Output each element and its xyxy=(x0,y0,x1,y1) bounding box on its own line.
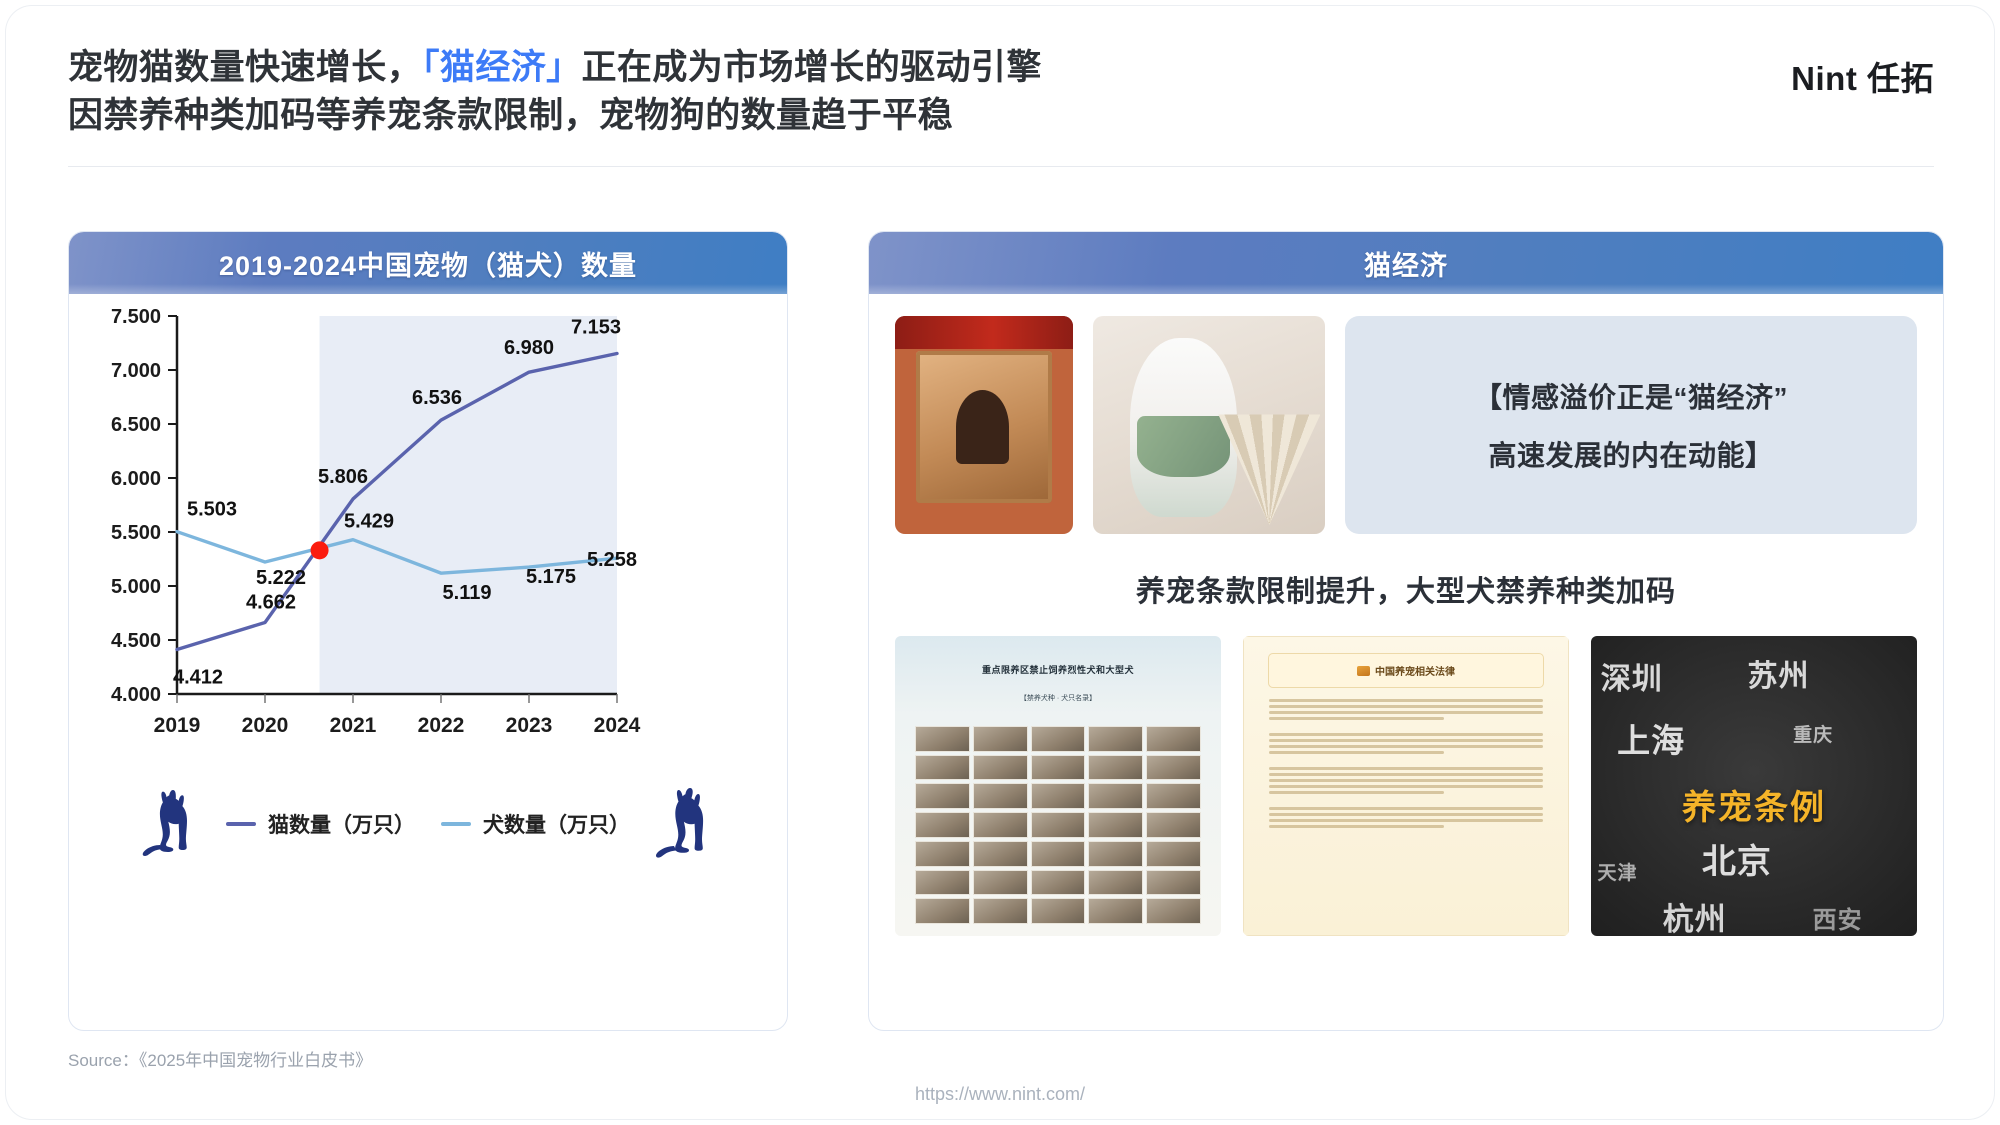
breed-photo-cell xyxy=(1146,841,1201,867)
breed-photo-cell xyxy=(1146,870,1201,896)
header-divider xyxy=(68,166,1934,167)
pet-law-text-line xyxy=(1269,705,1543,708)
headline-line1-part2: 正在成为市场增长的驱动引擎 xyxy=(582,48,1042,87)
pet-law-text-line xyxy=(1269,825,1444,828)
breed-photo-cell xyxy=(915,726,970,752)
cat-data-label: 4.412 xyxy=(173,667,223,689)
wordcloud-highlight: 养宠条例 xyxy=(1591,780,1917,829)
breed-photo-cell xyxy=(973,870,1028,896)
breed-photo-cell xyxy=(973,726,1028,752)
brand-logo: Nint 任拓 xyxy=(1791,52,1934,100)
pet-law-text-line xyxy=(1269,813,1543,816)
legend-swatch-cat xyxy=(226,822,256,826)
dog-silhouette-icon xyxy=(656,782,714,867)
pet-law-document-title: 中国养宠相关法律 xyxy=(1375,663,1455,678)
breed-photo-cell xyxy=(915,812,970,838)
breed-photo-cell xyxy=(1031,726,1086,752)
pet-law-text-line xyxy=(1269,739,1543,742)
breed-photo-cell xyxy=(1031,755,1086,781)
breed-photo-cell xyxy=(1146,783,1201,809)
city-word: 苏州 xyxy=(1747,651,1809,695)
breed-photo-cell xyxy=(973,898,1028,924)
breed-photo-cell xyxy=(1088,898,1143,924)
breed-photo-cell xyxy=(915,755,970,781)
breed-photo-cell xyxy=(915,898,970,924)
dog-data-label: 5.503 xyxy=(187,499,237,521)
scroll-icon xyxy=(1357,666,1370,676)
breed-photo-cell xyxy=(1088,841,1143,867)
cat-house-photo xyxy=(895,316,1073,534)
cat-economy-body: 【情感溢价正是“猫经济” 高速发展的内在动能】 养宠条款限制提升，大型犬禁养种类… xyxy=(869,294,1943,1031)
dog-data-label: 5.222 xyxy=(256,567,306,589)
city-word: 北京 xyxy=(1702,834,1772,883)
city-word: 重庆 xyxy=(1793,720,1833,747)
pet-law-text-line xyxy=(1269,699,1543,702)
slide-root: 宠物猫数量快速增长，「猫经济」正在成为市场增长的驱动引擎 因禁养种类加码等养宠条… xyxy=(0,0,2000,1125)
legend-swatch-dog xyxy=(441,822,471,826)
legend-label-dog: 犬数量（万只） xyxy=(483,809,630,839)
breed-photo-cell xyxy=(1146,812,1201,838)
page-frame: 宠物猫数量快速增长，「猫经济」正在成为市场增长的驱动引擎 因禁养种类加码等养宠条… xyxy=(6,6,1994,1119)
legend-item-cat[interactable]: 猫数量（万只） xyxy=(226,809,415,839)
breed-photo-cell xyxy=(973,783,1028,809)
pet-law-document-header: 中国养宠相关法律 xyxy=(1269,654,1543,687)
breed-photo-cell xyxy=(915,870,970,896)
dog-data-label: 5.119 xyxy=(443,582,492,604)
pet-law-text-line xyxy=(1269,819,1543,822)
x-axis-tick-label: 2024 xyxy=(594,714,641,737)
pet-law-text-line xyxy=(1269,733,1543,736)
breed-photo-cell xyxy=(915,783,970,809)
breed-photo-cell xyxy=(1031,870,1086,896)
pet-law-text-line xyxy=(1269,711,1543,714)
x-axis-tick-label: 2021 xyxy=(330,714,377,737)
chart-highlight-band xyxy=(320,316,617,694)
legend-item-dog[interactable]: 犬数量（万只） xyxy=(441,809,630,839)
y-axis-tick-label: 5.000 xyxy=(111,576,161,598)
city-word: 西安 xyxy=(1813,900,1863,935)
breed-photo-cell xyxy=(1088,726,1143,752)
top-media-row: 【情感溢价正是“猫经济” 高速发展的内在动能】 xyxy=(895,316,1917,534)
x-axis-tick-label: 2022 xyxy=(418,714,465,737)
cat-fan-photo-art xyxy=(1093,316,1325,534)
breed-photo-cell xyxy=(1088,755,1143,781)
breed-photo-cell xyxy=(915,841,970,867)
city-word: 深圳 xyxy=(1601,654,1663,698)
cat-economy-card: 猫经济 【情感溢价正是“猫经济” 高速发展的内在动能】 xyxy=(868,231,1944,1031)
y-axis-tick-label: 7.000 xyxy=(111,360,161,382)
quote-line-1: 【情感溢价正是“猫经济” xyxy=(1474,376,1788,416)
dog-data-label: 5.258 xyxy=(587,549,637,571)
cat-silhouette-icon xyxy=(142,782,200,867)
y-axis-tick-label: 4.500 xyxy=(111,630,161,652)
pet-law-text-line xyxy=(1269,797,1543,804)
cat-economy-card-title: 猫经济 xyxy=(1364,244,1448,283)
dog-data-label: 5.175 xyxy=(526,566,576,588)
footer-url: https://www.nint.com/ xyxy=(6,1084,1994,1105)
chart-body: 4.0004.5005.0005.5006.0006.5007.0007.500… xyxy=(69,294,787,1031)
dog-data-label: 5.429 xyxy=(344,511,394,533)
cat-economy-card-header: 猫经济 xyxy=(869,232,1943,294)
pet-law-text-line xyxy=(1269,717,1444,720)
y-axis-tick-label: 6.500 xyxy=(111,414,161,436)
y-axis-tick-label: 4.000 xyxy=(111,684,161,706)
cat-economy-subheading: 养宠条款限制提升，大型犬禁养种类加码 xyxy=(895,568,1917,610)
breed-photo-cell xyxy=(1031,812,1086,838)
pet-law-text-line xyxy=(1269,723,1543,730)
crossover-marker xyxy=(311,541,329,559)
headline-accent: 「猫经济」 xyxy=(422,48,582,87)
cat-data-label: 7.153 xyxy=(571,316,621,338)
pet-law-text-line xyxy=(1269,757,1543,764)
breed-photo-grid xyxy=(915,726,1202,924)
pet-law-text-line xyxy=(1269,745,1543,748)
restricted-breeds-poster-title: 重点限养区禁止饲养烈性犬和大型犬 xyxy=(895,663,1221,676)
pet-count-line-chart: 4.0004.5005.0005.5006.0006.5007.0007.500… xyxy=(69,294,788,764)
pet-law-text-line xyxy=(1269,785,1543,788)
quote-line-2: 高速发展的内在动能】 xyxy=(1488,434,1773,474)
pet-law-text-line xyxy=(1269,779,1543,782)
city-word: 天津 xyxy=(1598,858,1638,885)
headline-line-1: 宠物猫数量快速增长，「猫经济」正在成为市场增长的驱动引擎 xyxy=(68,44,1934,92)
breed-photo-cell xyxy=(1088,812,1143,838)
cat-data-label: 6.980 xyxy=(504,337,554,359)
cat-data-label: 5.806 xyxy=(318,466,368,488)
cat-data-label: 6.536 xyxy=(412,387,462,409)
source-note: Source：《2025年中国宠物行业白皮书》 xyxy=(68,1046,372,1071)
y-axis-tick-label: 5.500 xyxy=(111,522,161,544)
chart-card: 2019-2024中国宠物（猫犬）数量 4.0004.5005.0005.500… xyxy=(68,231,788,1031)
breed-photo-cell xyxy=(1088,870,1143,896)
restricted-breeds-poster: 重点限养区禁止饲养烈性犬和大型犬 【禁养犬种 · 犬只名录】 xyxy=(895,636,1221,936)
city-regulation-wordcloud: 深圳苏州上海重庆北京天津杭州西安 养宠条例 xyxy=(1591,636,1917,936)
chart-card-title: 2019-2024中国宠物（猫犬）数量 xyxy=(219,244,637,283)
city-word: 上海 xyxy=(1617,714,1685,762)
cat-house-photo-art xyxy=(895,316,1073,534)
chart-legend: 猫数量（万只） 犬数量（万只） xyxy=(69,759,787,889)
breed-photo-cell xyxy=(1088,783,1143,809)
breed-photo-cell xyxy=(973,841,1028,867)
breed-photo-cell xyxy=(1146,726,1201,752)
pet-law-text-line xyxy=(1269,767,1543,770)
cat-figure xyxy=(1130,338,1237,517)
pet-law-text-lines xyxy=(1269,699,1543,921)
breed-photo-cell xyxy=(1031,898,1086,924)
cat-fan-photo xyxy=(1093,316,1325,534)
quote-box: 【情感溢价正是“猫经济” 高速发展的内在动能】 xyxy=(1345,316,1917,534)
chart-card-header: 2019-2024中国宠物（猫犬）数量 xyxy=(69,232,787,294)
legend-label-cat: 猫数量（万只） xyxy=(268,809,415,839)
city-word: 杭州 xyxy=(1663,894,1727,936)
breed-photo-cell xyxy=(1031,841,1086,867)
breed-photo-cell xyxy=(1146,898,1201,924)
breed-photo-cell xyxy=(973,812,1028,838)
pet-law-text-line xyxy=(1269,807,1543,810)
x-axis-tick-label: 2019 xyxy=(154,714,201,737)
headline-line-2: 因禁养种类加码等养宠条款限制，宠物狗的数量趋于平稳 xyxy=(68,92,1934,140)
breed-photo-cell xyxy=(1146,755,1201,781)
cat-house-photo-banner xyxy=(895,316,1073,349)
x-axis-tick-label: 2023 xyxy=(506,714,553,737)
document-thumbnail-row: 重点限养区禁止饲养烈性犬和大型犬 【禁养犬种 · 犬只名录】 中国养宠相关法律 … xyxy=(895,636,1917,936)
headline-line1-part1: 宠物猫数量快速增长， xyxy=(68,48,422,87)
pet-law-text-line xyxy=(1269,791,1444,794)
pet-law-document: 中国养宠相关法律 xyxy=(1243,636,1569,936)
header: 宠物猫数量快速增长，「猫经济」正在成为市场增长的驱动引擎 因禁养种类加码等养宠条… xyxy=(68,44,1934,150)
cat-data-label: 4.662 xyxy=(246,592,296,614)
y-axis-tick-label: 6.000 xyxy=(111,468,161,490)
breed-photo-cell xyxy=(1031,783,1086,809)
pet-law-text-line xyxy=(1269,751,1444,754)
y-axis-tick-label: 7.500 xyxy=(111,306,161,328)
pet-law-text-line xyxy=(1269,773,1543,776)
x-axis-tick-label: 2020 xyxy=(242,714,289,737)
restricted-breeds-poster-subtitle: 【禁养犬种 · 犬只名录】 xyxy=(895,693,1221,703)
breed-photo-cell xyxy=(973,755,1028,781)
